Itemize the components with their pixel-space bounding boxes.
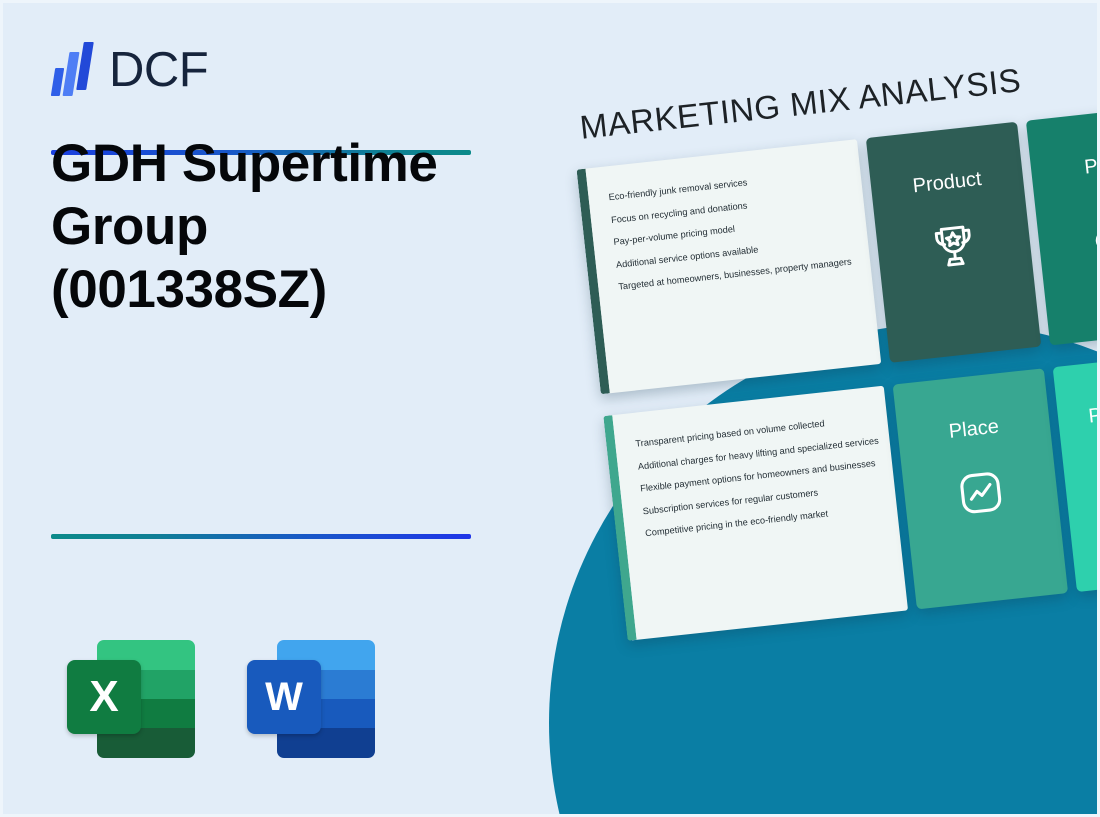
page-title: GDH Supertime Group (001338SZ) xyxy=(51,132,481,321)
product-bullets-panel: Eco-friendly junk removal services Focus… xyxy=(577,139,882,394)
card-price-label: Price xyxy=(1030,146,1100,185)
marketing-mix-graphic: MARKETING MIX ANALYSIS Eco-friendly junk… xyxy=(523,3,1100,817)
product-bullet-list: Eco-friendly junk removal services Focus… xyxy=(608,167,855,294)
card-place-label: Place xyxy=(897,410,1051,449)
word-tile-letter: W xyxy=(247,660,321,734)
activity-chart-icon xyxy=(902,456,1059,530)
link-chain-icon xyxy=(1035,192,1100,266)
excel-tile-letter: X xyxy=(67,660,141,734)
slide-canvas: DCF GDH Supertime Group (001338SZ) X W xyxy=(0,0,1100,817)
place-bullet-list: Transparent pricing based on volume coll… xyxy=(635,413,882,540)
card-promotion-label: Promotion xyxy=(1057,393,1100,432)
brand-name: DCF xyxy=(109,46,208,95)
diagram-row-place: Transparent pricing based on volume coll… xyxy=(603,351,1100,641)
marketing-mix-board: MARKETING MIX ANALYSIS Eco-friendly junk… xyxy=(569,31,1100,615)
card-place[interactable]: Place xyxy=(893,368,1069,609)
brand-logo[interactable]: DCF xyxy=(51,37,521,103)
excel-file-icon[interactable]: X xyxy=(67,634,195,762)
diagram-row-product: Eco-friendly junk removal services Focus… xyxy=(577,104,1100,394)
divider-bottom xyxy=(51,534,471,539)
left-column: DCF GDH Supertime Group (001338SZ) X W xyxy=(51,37,521,777)
card-product[interactable]: Product xyxy=(866,122,1042,363)
trophy-icon xyxy=(875,209,1032,283)
card-product-label: Product xyxy=(870,163,1024,202)
place-bullets-panel: Transparent pricing based on volume coll… xyxy=(603,386,908,641)
bar-chart-logo-icon xyxy=(51,42,97,98)
cloud-icon xyxy=(1062,438,1100,512)
document-icons: X W xyxy=(67,634,375,762)
word-file-icon[interactable]: W xyxy=(247,634,375,762)
